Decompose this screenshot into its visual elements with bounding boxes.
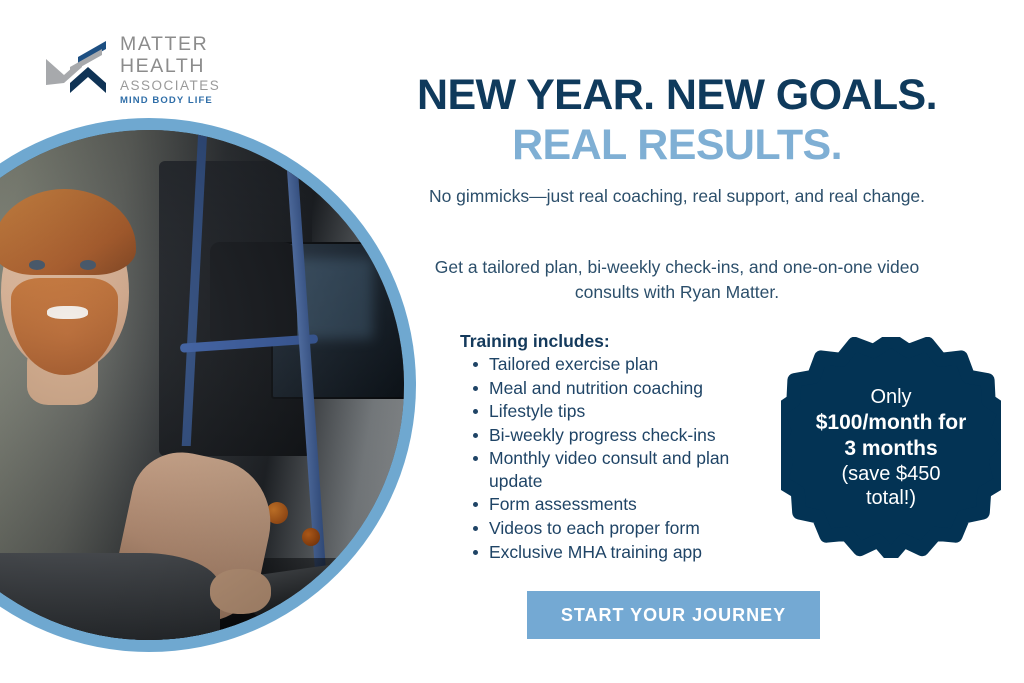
training-includes-title: Training includes: xyxy=(460,331,780,352)
mha-monogram-icon xyxy=(40,33,112,105)
list-item: Form assessments xyxy=(489,493,780,516)
brand-logo: MATTER HEALTH ASSOCIATES MIND BODY LIFE xyxy=(40,28,240,110)
price-badge-text: Only $100/month for 3 months (save $450 … xyxy=(781,337,1001,558)
promo-flyer: MATTER HEALTH ASSOCIATES MIND BODY LIFE xyxy=(0,0,1024,683)
price-badge-line-1: Only xyxy=(870,385,911,409)
intro-paragraph-2: Get a tailored plan, bi-weekly check-ins… xyxy=(408,255,946,305)
training-includes-block: Training includes: Tailored exercise pla… xyxy=(460,331,780,564)
cta-label: START YOUR JOURNEY xyxy=(561,605,786,626)
price-badge-line-4: (save $450 xyxy=(842,462,941,486)
list-item: Exclusive MHA training app xyxy=(489,541,780,564)
price-badge: Only $100/month for 3 months (save $450 … xyxy=(781,337,1001,558)
trainer-photo-ring xyxy=(0,118,416,652)
price-badge-line-3: 3 months xyxy=(844,436,937,461)
headline-line-1: NEW YEAR. NEW GOALS. xyxy=(372,72,982,118)
start-your-journey-button[interactable]: START YOUR JOURNEY xyxy=(527,591,820,639)
list-item: Monthly video consult and plan update xyxy=(489,447,780,492)
list-item: Videos to each proper form xyxy=(489,517,780,540)
brand-name-line-1: MATTER xyxy=(120,35,220,55)
headline: NEW YEAR. NEW GOALS. REAL RESULTS. xyxy=(372,72,982,170)
photo-vignette xyxy=(0,130,404,640)
price-badge-line-5: total!) xyxy=(866,486,916,510)
list-item: Lifestyle tips xyxy=(489,400,780,423)
brand-name-line-2: HEALTH xyxy=(120,57,220,77)
gym-scene xyxy=(0,130,404,640)
list-item: Tailored exercise plan xyxy=(489,353,780,376)
brand-name-line-3: ASSOCIATES xyxy=(120,79,220,93)
brand-wordmark: MATTER HEALTH ASSOCIATES MIND BODY LIFE xyxy=(120,33,220,105)
training-includes-list: Tailored exercise plan Meal and nutritio… xyxy=(460,353,780,563)
brand-tagline: MIND BODY LIFE xyxy=(120,96,220,106)
intro-paragraph-1: No gimmicks—just real coaching, real sup… xyxy=(408,184,946,209)
headline-line-2: REAL RESULTS. xyxy=(372,121,982,169)
list-item: Meal and nutrition coaching xyxy=(489,377,780,400)
list-item: Bi-weekly progress check-ins xyxy=(489,424,780,447)
trainer-photo xyxy=(0,130,404,640)
price-badge-line-2: $100/month for xyxy=(816,410,967,435)
